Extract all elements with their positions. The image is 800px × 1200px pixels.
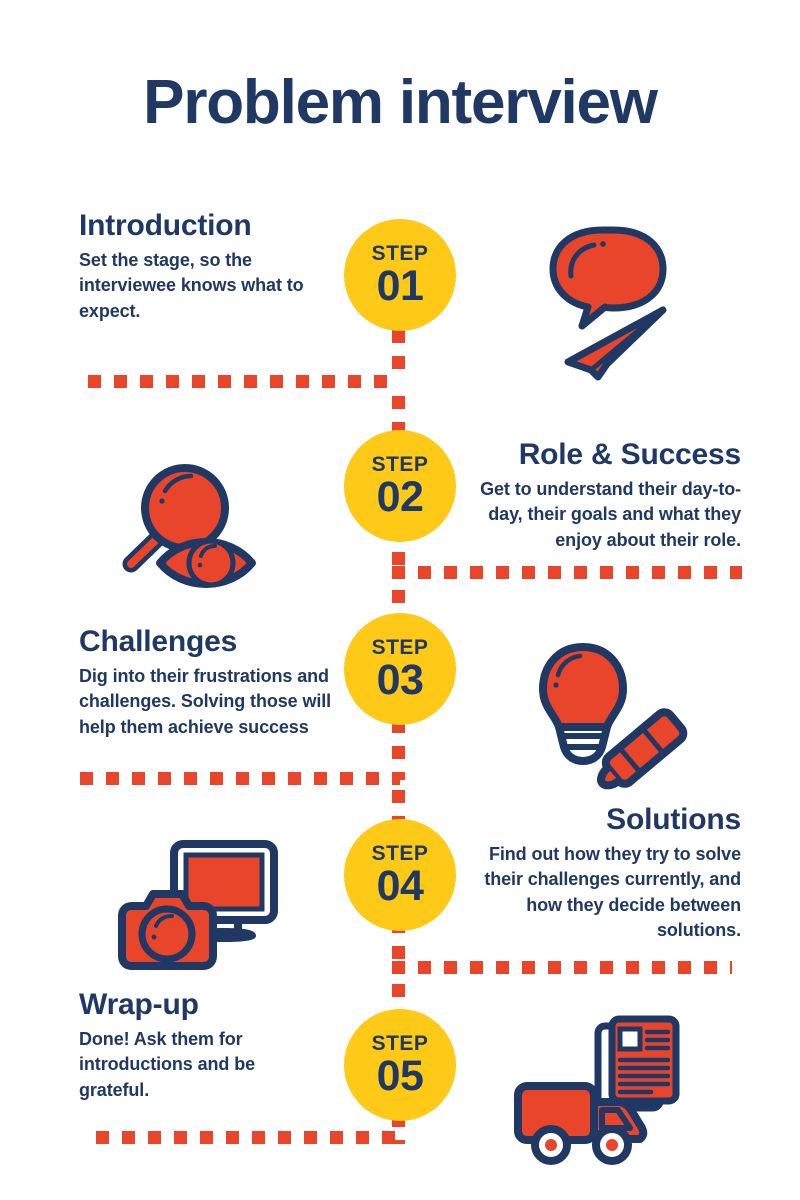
step-heading-03: Challenges bbox=[79, 625, 363, 659]
step-text-block-03: Challenges Dig into their frustrations a… bbox=[79, 625, 363, 740]
step-text-block-04: Solutions Find out how they try to solve… bbox=[452, 803, 741, 944]
page-title: Problem interview bbox=[0, 72, 800, 134]
step-number-04: 04 bbox=[377, 865, 424, 908]
connector-step05-horizontal bbox=[96, 1131, 400, 1144]
magnifier-and-eye-icon bbox=[115, 443, 285, 598]
step-circle-01[interactable]: STEP 01 bbox=[344, 219, 456, 331]
step-heading-02: Role & Success bbox=[455, 438, 741, 472]
step-label-02: STEP bbox=[372, 454, 429, 475]
step-text-block-05: Wrap-up Done! Ask them for introductions… bbox=[79, 988, 324, 1103]
monitor-and-camera-icon bbox=[110, 834, 290, 974]
step-text-block-01: Introduction Set the stage, so the inter… bbox=[79, 209, 341, 324]
connector-step04-horizontal bbox=[392, 961, 732, 974]
connector-step03-horizontal bbox=[80, 772, 400, 785]
step-heading-01: Introduction bbox=[79, 209, 341, 243]
step-body-04: Find out how they try to solve their cha… bbox=[452, 842, 741, 944]
speech-bubble-and-paper-plane-icon bbox=[545, 222, 715, 382]
connector-step01-horizontal bbox=[88, 375, 398, 388]
step-heading-04: Solutions bbox=[452, 803, 741, 837]
step-heading-05: Wrap-up bbox=[79, 988, 324, 1022]
step-label-04: STEP bbox=[372, 843, 429, 864]
step-label-01: STEP bbox=[372, 243, 429, 264]
step-number-05: 05 bbox=[377, 1055, 424, 1098]
step-body-03: Dig into their frustrations and challeng… bbox=[79, 664, 363, 741]
step-text-block-02: Role & Success Get to understand their d… bbox=[455, 438, 741, 553]
step-body-02: Get to understand their day-to-day, thei… bbox=[455, 477, 741, 554]
step-body-05: Done! Ask them for introductions and be … bbox=[79, 1027, 324, 1104]
newspaper-and-truck-icon bbox=[508, 1008, 688, 1168]
step-number-01: 01 bbox=[377, 265, 424, 308]
step-number-03: 03 bbox=[377, 659, 424, 702]
infographic-page: Problem interview STEP 01 Introduction S… bbox=[0, 0, 800, 1200]
lightbulb-and-pencil-icon bbox=[525, 635, 695, 790]
step-circle-03[interactable]: STEP 03 bbox=[344, 613, 456, 725]
step-circle-05[interactable]: STEP 05 bbox=[344, 1009, 456, 1121]
step-number-02: 02 bbox=[377, 476, 424, 519]
step-circle-02[interactable]: STEP 02 bbox=[344, 430, 456, 542]
step-label-03: STEP bbox=[372, 637, 429, 658]
step-label-05: STEP bbox=[372, 1033, 429, 1054]
step-body-01: Set the stage, so the interviewee knows … bbox=[79, 248, 341, 325]
connector-step02-horizontal bbox=[392, 566, 742, 579]
step-circle-04[interactable]: STEP 04 bbox=[344, 819, 456, 931]
